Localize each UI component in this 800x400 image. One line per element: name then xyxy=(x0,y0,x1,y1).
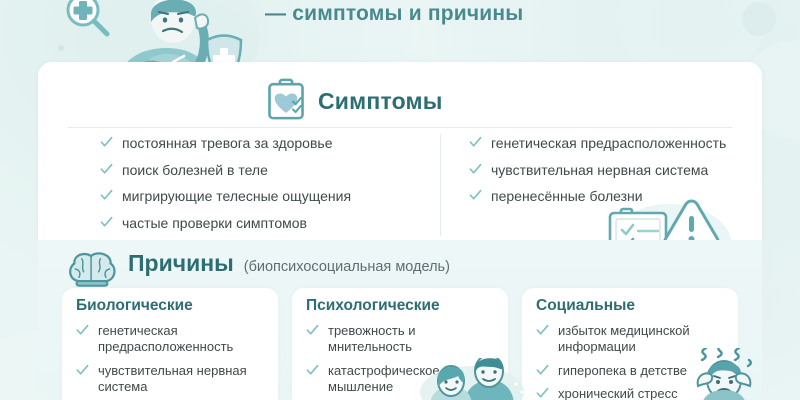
check-icon xyxy=(536,364,549,377)
page-title: — симптомы и причины xyxy=(265,2,695,26)
brain-icon xyxy=(66,250,118,293)
causes-column-heading: Социальные xyxy=(536,297,724,315)
list-item: чувствительная нервная система xyxy=(76,362,264,396)
check-icon xyxy=(100,216,113,229)
check-icon xyxy=(100,189,113,202)
causes-panel: Причины (биопсихосоциальная модель) Биол… xyxy=(38,240,762,400)
list-item: тревожность и мнительность xyxy=(306,322,494,356)
check-icon xyxy=(469,163,482,176)
list-item: поиск болезней в теле xyxy=(100,161,440,180)
symptoms-divider xyxy=(68,127,732,128)
couple-illustration xyxy=(406,358,532,400)
list-item-label: постоянная тревога за здоровье xyxy=(122,134,333,153)
causes-column-heading: Биологические xyxy=(76,297,264,315)
list-item: частые проверки симптомов xyxy=(100,214,440,233)
symptoms-header: Симптомы xyxy=(266,78,443,125)
symptoms-heading: Симптомы xyxy=(318,88,443,115)
infographic-canvas: — симптомы и причины Симптомы постоянная xyxy=(0,0,800,400)
list-item-label: гиперопека в детстве xyxy=(558,362,687,379)
check-icon xyxy=(100,136,113,149)
clipboard-heart-icon xyxy=(266,78,306,125)
list-item-label: чувствительная нервная система xyxy=(491,161,708,180)
list-item-label: мигрирующие телесные ощущения xyxy=(122,187,351,206)
stressed-woman-illustration xyxy=(690,348,782,400)
list-item-label: генетическая предрасположенность xyxy=(98,322,264,356)
list-item: генетическая предрасположенность xyxy=(76,322,264,356)
check-icon xyxy=(76,364,89,377)
check-icon xyxy=(469,189,482,202)
list-item-label: поиск болезней в теле xyxy=(122,161,268,180)
check-icon xyxy=(100,163,113,176)
causes-heading: Причины xyxy=(128,250,234,277)
list-item: чувствительная нервная система xyxy=(469,161,799,180)
check-icon xyxy=(306,364,319,377)
list-item-label: частые проверки симптомов xyxy=(122,214,307,233)
causes-column-heading: Психологические xyxy=(306,297,494,315)
causes-columns: Биологические генетическая предрасположе… xyxy=(62,288,738,400)
list-item: генетическая предрасположенность xyxy=(469,134,799,153)
check-icon xyxy=(536,387,549,400)
list-item: мигрирующие телесные ощущения xyxy=(100,187,440,206)
bg-blob-6 xyxy=(742,2,776,36)
symptoms-left-column: постоянная тревога за здоровье поиск бол… xyxy=(68,134,440,236)
check-icon xyxy=(76,324,89,337)
causes-header: Причины (биопсихосоциальная модель) xyxy=(66,250,450,293)
list-item-label: чувствительная нервная система xyxy=(98,362,264,396)
list-item-label: хронический стресс xyxy=(558,385,678,400)
list-item-label: тревожность и мнительность xyxy=(328,322,494,356)
causes-column-biological: Биологические генетическая предрасположе… xyxy=(62,288,278,400)
check-icon xyxy=(306,324,319,337)
list-item-label: генетическая предрасположенность xyxy=(491,134,726,153)
list-item: постоянная тревога за здоровье xyxy=(100,134,440,153)
check-icon xyxy=(469,136,482,149)
check-icon xyxy=(536,324,549,337)
causes-subtitle: (биопсихосоциальная модель) xyxy=(244,259,450,275)
